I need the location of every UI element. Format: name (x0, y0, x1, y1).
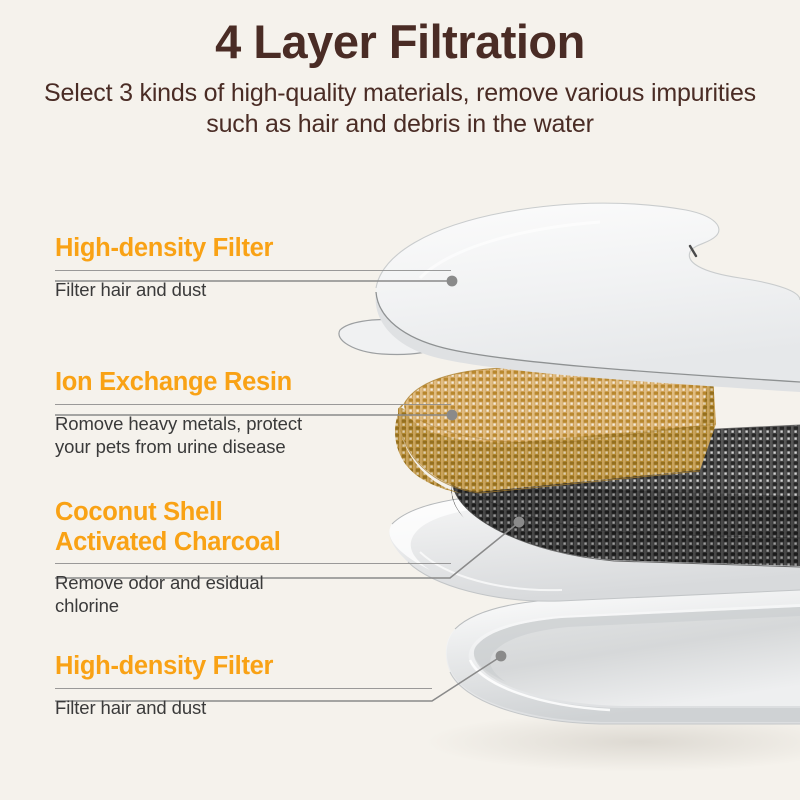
layer-callout-high-density-filter-bottom: High-density Filter Filter hair and dust (55, 652, 432, 719)
layer-heading: Ion Exchange Resin (55, 368, 451, 398)
header: 4 Layer Filtration Select 3 kinds of hig… (0, 0, 800, 140)
leader-lines (55, 281, 518, 701)
layer-divider (55, 688, 432, 689)
layer-divider (55, 404, 451, 405)
leader-dot-4 (496, 651, 507, 662)
page-subtitle: Select 3 kinds of high-quality materials… (0, 78, 800, 140)
layer-divider (55, 270, 451, 271)
layer-description: Filter hair and dust (55, 278, 451, 301)
layer-description: Romove heavy metals, protect your pets f… (55, 412, 451, 458)
layer-description: Filter hair and dust (55, 696, 432, 719)
layer-filter-tray-white (425, 587, 800, 772)
layer-charcoal-mesh (451, 425, 800, 567)
leader-dot-3 (514, 517, 525, 528)
layer-divider (55, 563, 451, 564)
leader-dots (447, 276, 525, 662)
layer-callout-high-density-filter-top: High-density Filter Filter hair and dust (55, 234, 451, 301)
layer-heading: High-density Filter (55, 234, 451, 264)
layer-callout-ion-exchange-resin: Ion Exchange Resin Romove heavy metals, … (55, 368, 451, 458)
page-title: 4 Layer Filtration (0, 18, 800, 65)
layer-description: Remove odor and esidual chlorine (55, 571, 451, 617)
layer-heading: High-density Filter (55, 652, 432, 682)
layer-callout-coconut-shell-activated-charcoal: Coconut Shell Activated Charcoal Remove … (55, 498, 451, 617)
layer-heading: Coconut Shell Activated Charcoal (55, 498, 451, 557)
